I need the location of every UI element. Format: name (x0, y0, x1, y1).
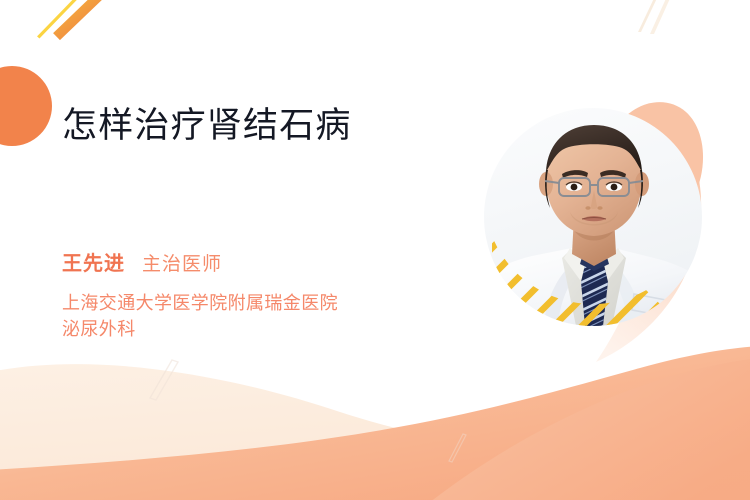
orange-circle-shape (0, 66, 52, 146)
doctor-hospital: 上海交通大学医学院附属瑞金医院 (62, 290, 338, 316)
doctor-name: 王先进 (62, 247, 125, 276)
poster-card: 怎样治疗肾结石病 王先进 主治医师 上海交通大学医学院附属瑞金医院 泌尿外科 (0, 0, 750, 500)
doctor-department: 泌尿外科 (62, 316, 338, 342)
top-right-faint-stripes (638, 0, 672, 34)
title-block: 怎样治疗肾结石病 (62, 104, 462, 149)
doctor-rank: 主治医师 (142, 249, 222, 276)
page-title: 怎样治疗肾结石病 (62, 104, 462, 149)
top-diagonal-stripes (37, 0, 116, 52)
doctor-identity: 王先进 主治医师 (62, 247, 222, 276)
stripe-orange-shape (52, 0, 116, 52)
doctor-portrait (484, 108, 702, 326)
doctor-portrait-illustration (484, 108, 702, 326)
doctor-affiliation: 上海交通大学医学院附属瑞金医院 泌尿外科 (62, 290, 338, 343)
